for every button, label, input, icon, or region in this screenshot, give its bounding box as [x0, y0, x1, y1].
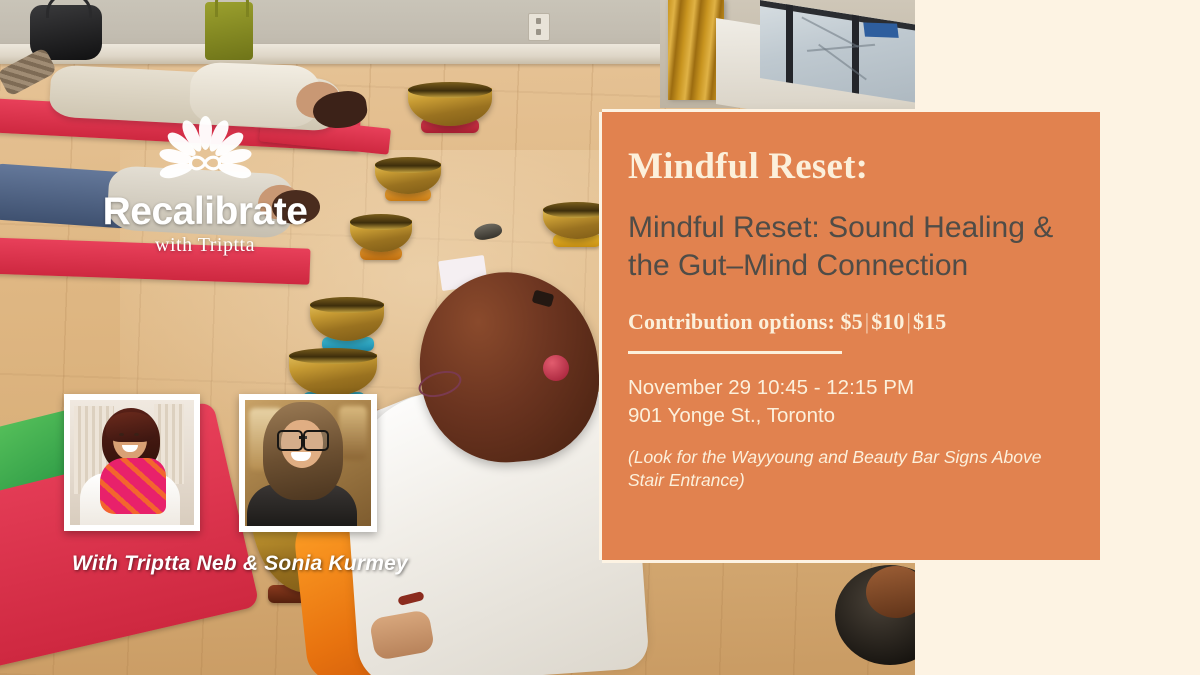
- event-info-card: Mindful Reset: Mindful Reset: Sound Heal…: [602, 112, 1100, 560]
- participant-hair: [272, 190, 320, 224]
- window-mullion: [852, 5, 859, 103]
- event-title: Mindful Reset:: [628, 148, 1066, 187]
- exterior-sign: [863, 22, 898, 37]
- event-promo-banner: Recalibrate with Triptta: [0, 0, 1200, 675]
- contribution-options: Contribution options: $5|$10|$15: [628, 309, 1066, 335]
- presenters-caption: With Triptta Neb & Sonia Kurmey: [72, 552, 408, 576]
- wall-outlet-icon: [528, 13, 550, 41]
- contribution-label: Contribution options:: [628, 309, 835, 334]
- tree-branch: [801, 16, 858, 47]
- tree-branch: [818, 44, 867, 81]
- eyeglasses-icon: [277, 430, 329, 447]
- portrait-triptta-neb: [64, 394, 200, 531]
- event-location-note: (Look for the Wayyoung and Beauty Bar Si…: [628, 446, 1066, 492]
- red-ball: [543, 355, 569, 381]
- event-location: 901 Yonge St., Toronto: [628, 402, 1066, 430]
- contribution-price-3: $15: [913, 309, 946, 334]
- section-divider: [628, 351, 842, 354]
- portrait-sonia-kurmey: [239, 394, 377, 532]
- price-separator: |: [905, 309, 914, 334]
- contribution-price-2: $10: [871, 309, 904, 334]
- event-datetime: November 29 10:45 - 12:15 PM: [628, 374, 1066, 402]
- baseboard: [0, 44, 700, 64]
- contribution-price-1: $5: [840, 309, 862, 334]
- event-subtitle: Mindful Reset: Sound Healing & the Gut–M…: [628, 209, 1066, 285]
- price-separator: |: [863, 309, 872, 334]
- olive-tote-bag: [205, 2, 253, 60]
